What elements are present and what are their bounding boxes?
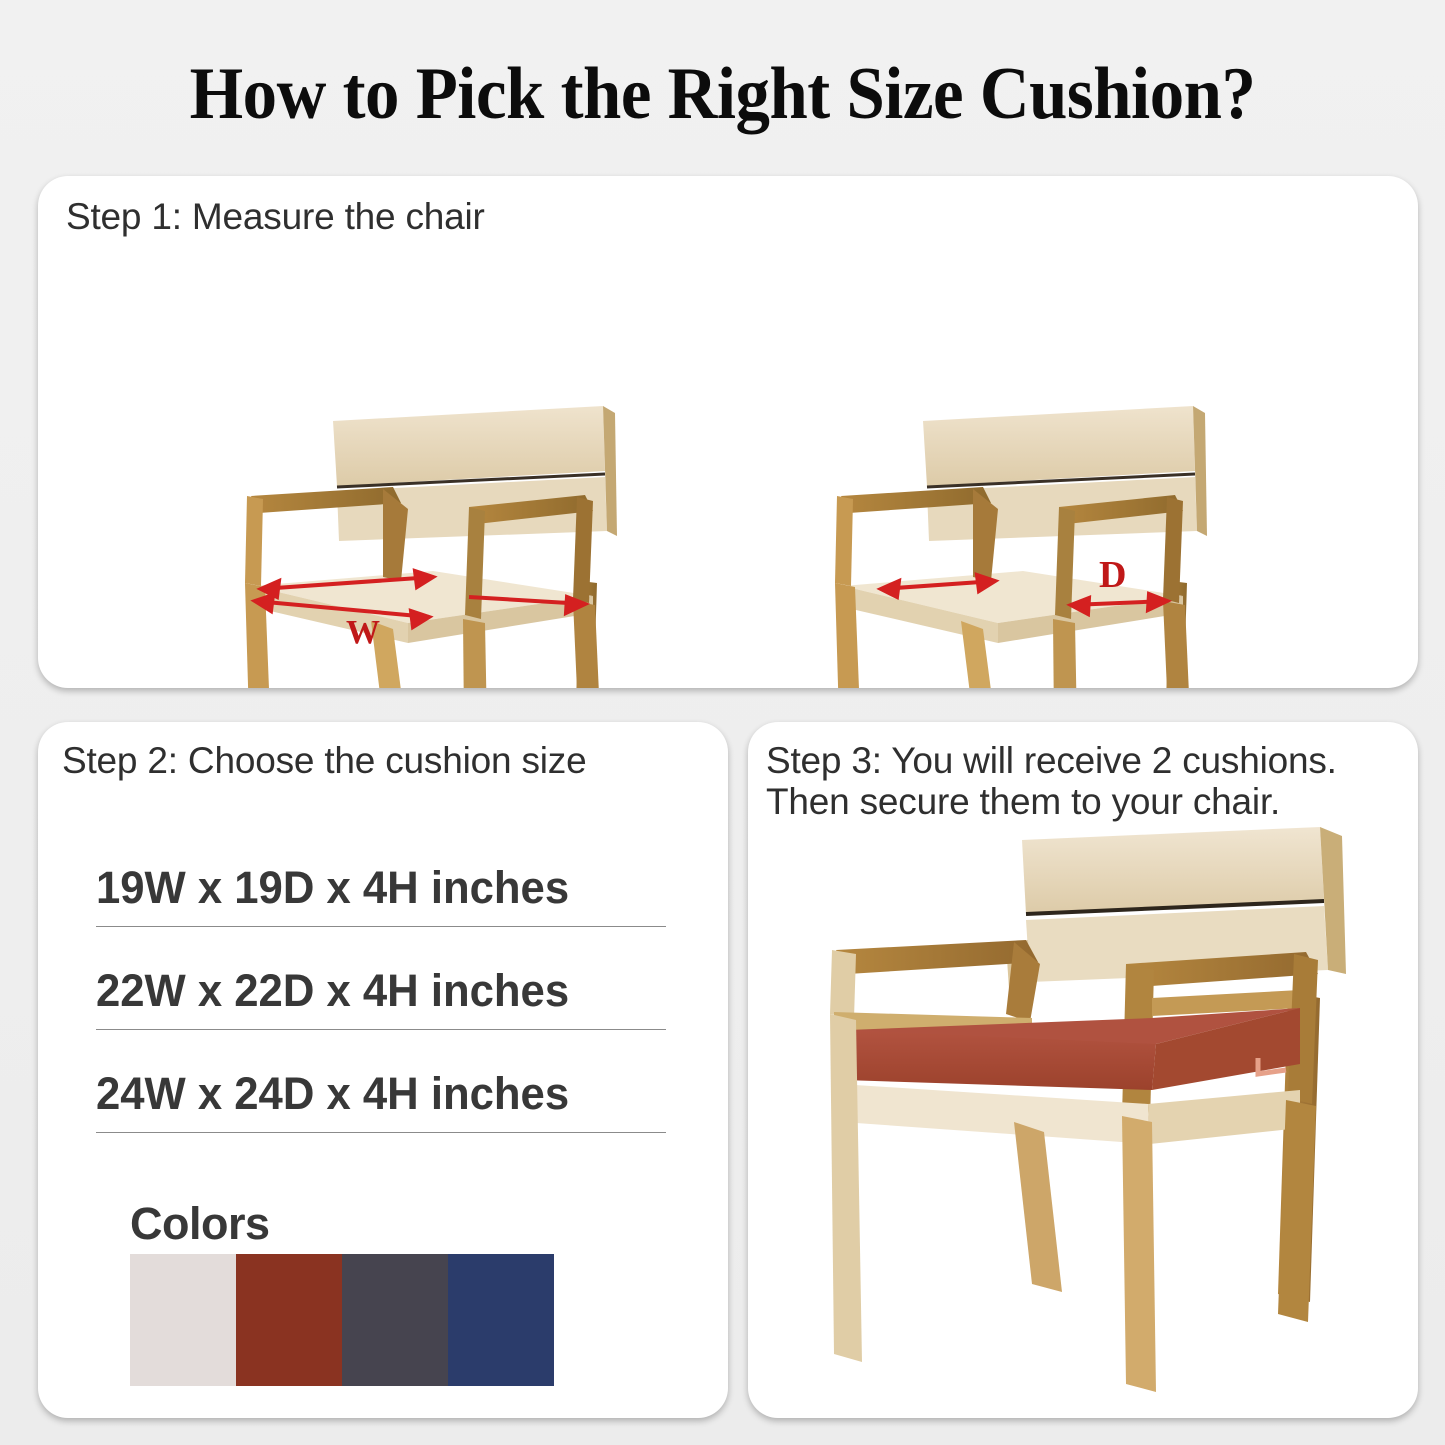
left-arm-post [245,496,263,586]
left-arm-post [830,950,856,1018]
backrest-upper [923,406,1195,486]
size-option-row[interactable]: 22W x 22D x 4H inches [96,965,666,1030]
step3-heading: Step 3: You will receive 2 cushions. The… [766,740,1337,823]
color-swatch-navy-blue[interactable] [448,1254,554,1386]
step2-heading: Step 2: Choose the cushion size [62,740,586,781]
page-title: How to Pick the Right Size Cushion? [51,52,1395,137]
width-label: W [346,614,380,651]
seat-frame-front [840,1084,1150,1144]
size-option-label: 19W x 19D x 4H inches [96,862,649,914]
color-swatch-charcoal-gray[interactable] [342,1254,448,1386]
color-swatch-beige[interactable] [130,1254,236,1386]
step2-card: Step 2: Choose the cushion size 19W x 19… [38,722,728,1418]
chair-width-diagram: W [233,391,653,688]
step1-heading: Step 1: Measure the chair [66,196,485,237]
depth-label: D [1099,554,1126,596]
front-right-leg [463,619,489,688]
chair-depth-diagram: D [823,391,1243,688]
colors-label: Colors [130,1198,270,1250]
divider [96,926,666,927]
backrest-upper [333,406,605,486]
rear-right-leg [573,601,603,688]
color-swatch-strip [130,1254,554,1386]
divider [96,1132,666,1133]
infographic-page: How to Pick the Right Size Cushion? Step… [0,0,1445,1445]
seat-frame-side [1148,1090,1300,1144]
divider [96,1029,666,1030]
front-right-leg [1122,1116,1156,1392]
color-swatch-rust-red[interactable] [236,1254,342,1386]
rear-right-leg [1163,601,1193,688]
size-option-label: 22W x 22D x 4H inches [96,965,649,1017]
size-option-row[interactable]: 24W x 24D x 4H inches [96,1068,666,1133]
center-diagonal-leg [1014,1122,1062,1292]
cushion-size-list: 19W x 19D x 4H inches 22W x 22D x 4H inc… [96,862,666,1171]
left-arm-post [835,496,853,586]
chair-with-cushion-diagram [800,822,1380,1407]
step3-card: Step 3: You will receive 2 cushions. The… [748,722,1418,1418]
size-option-row[interactable]: 19W x 19D x 4H inches [96,862,666,927]
size-option-label: 24W x 24D x 4H inches [96,1068,649,1120]
backrest-upper [1022,827,1324,914]
front-right-leg [1053,619,1079,688]
step1-card: Step 1: Measure the chair [38,176,1418,688]
